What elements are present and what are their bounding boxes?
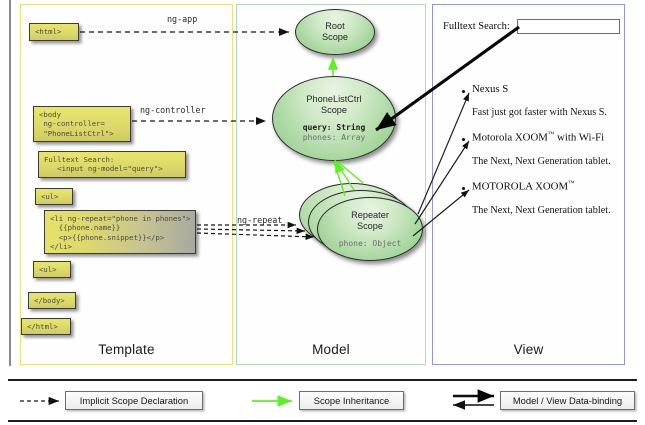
scope-phonelistctrl-fields: query: String phones: Array	[303, 123, 366, 143]
legend-item-implicit-scope-declaration: Implicit Scope Declaration	[65, 391, 203, 410]
scope-repeater: RepeaterScope phone: Object	[317, 197, 423, 261]
code-box-ul-open: <ul>	[35, 188, 73, 205]
code-box-body-open: <body ng-controller= "PhoneListCtrl">	[33, 106, 131, 142]
edge-label-ng-repeat: ng-repeat	[237, 215, 282, 225]
scope-phonelistctrl: PhoneListCtrlScope query: String phones:…	[272, 76, 396, 161]
edge-label-ng-controller: ng-controller	[140, 105, 206, 115]
code-box-body-close: </body>	[28, 292, 76, 309]
scope-repeater-title: RepeaterScope	[351, 210, 389, 232]
phone-snippet-3: The Next, Next Generation tablet.	[472, 205, 611, 216]
phone-name-3-text: MOTOROLA XOOM	[472, 181, 568, 193]
column-template: Template	[20, 4, 233, 365]
code-box-fulltext-search: Fulltext Search: <input ng-model="query"…	[38, 151, 186, 178]
scope-phonelistctrl-title: PhoneListCtrlScope	[306, 94, 361, 116]
view-search-input[interactable]	[517, 19, 620, 34]
code-box-li-repeat: <li ng-repeat="phone in phones"> {{phone…	[44, 210, 196, 254]
column-label-view: View	[433, 342, 624, 357]
legend-divider-top	[8, 379, 637, 381]
edge-label-ng-app: ng-app	[167, 14, 197, 24]
trademark-icon-3: ™	[568, 180, 574, 187]
scope-repeater-fields: phone: Object	[339, 239, 402, 249]
phone-snippet-2: The Next, Next Generation tablet.	[472, 156, 611, 167]
code-box-html-open: <html>	[29, 23, 79, 41]
column-label-template: Template	[21, 342, 232, 357]
code-box-html-close: </html>	[21, 318, 71, 335]
field-query: query: String	[303, 123, 366, 133]
legend-divider-bottom	[8, 420, 637, 422]
field-phones: phones: Array	[303, 133, 366, 143]
phone-name-1: Nexus S	[472, 83, 508, 95]
phone-name-2-suffix: with Wi-Fi	[554, 132, 604, 144]
phone-name-2-text: Motorola XOOM	[472, 132, 548, 144]
view-search-label: Fulltext Search:	[443, 21, 510, 32]
legend-item-scope-inheritance: Scope Inheritance	[299, 391, 404, 410]
scope-root: RootScope	[295, 9, 375, 55]
field-phone: phone: Object	[339, 239, 402, 249]
phone-snippet-1: Fast just got faster with Nexus S.	[472, 107, 607, 118]
legend-marker-model-view-data-binding	[453, 396, 494, 405]
phone-name-2: Motorola XOOM™ with Wi-Fi	[472, 131, 604, 144]
scope-root-title: RootScope	[322, 21, 348, 43]
code-box-ul-close: <ul>	[33, 261, 71, 278]
left-edge-rule	[9, 0, 11, 366]
phone-name-3: MOTOROLA XOOM™	[472, 180, 575, 193]
legend-item-model-view-data-binding: Model / View Data-binding	[500, 391, 635, 410]
diagram-canvas: Template Model View <html> <body ng-cont…	[0, 0, 645, 425]
column-label-model: Model	[237, 342, 425, 357]
